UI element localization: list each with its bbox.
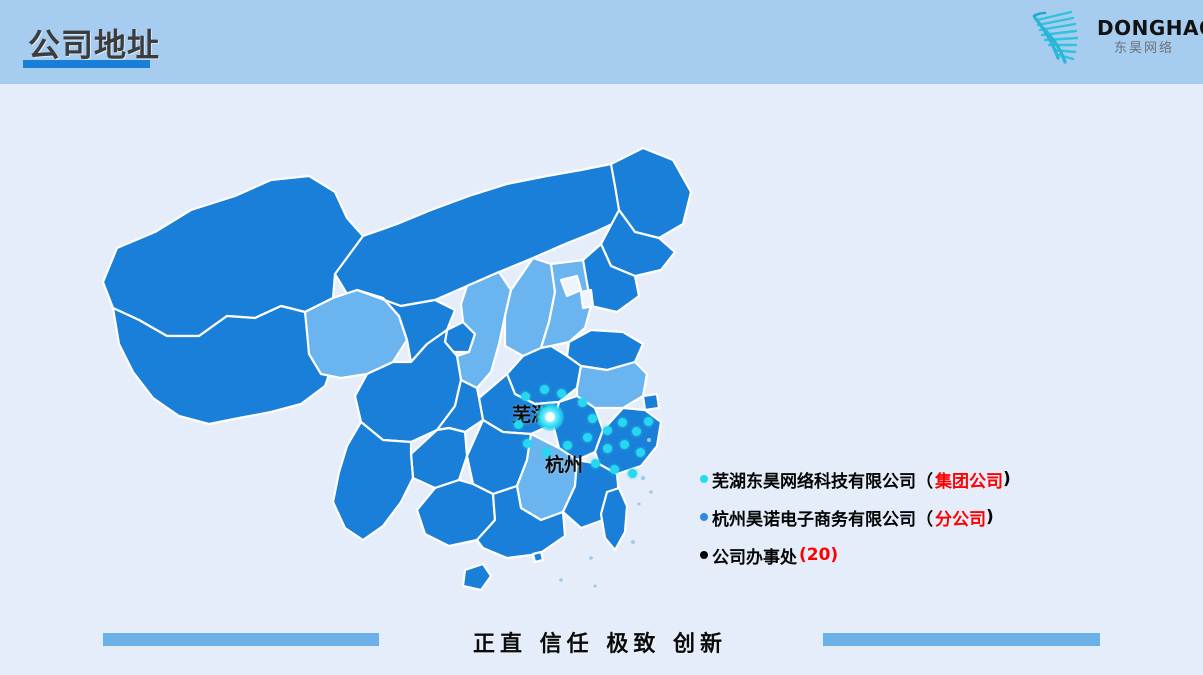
feather-logo-icon [1031, 10, 1093, 70]
logo-subtitle: 东昊网络 [1097, 40, 1191, 58]
office-marker[interactable] [563, 441, 572, 450]
legend-tag-offices-count: (20) [799, 545, 838, 565]
office-marker[interactable] [542, 448, 551, 457]
footer-bar-right [823, 633, 1100, 646]
office-marker[interactable] [578, 398, 587, 407]
office-marker[interactable] [603, 426, 612, 435]
legend-bullet-icon-black [700, 551, 708, 559]
office-marker[interactable] [591, 459, 600, 468]
footer-slogan: 正直 信任 极致 创新 [440, 626, 760, 658]
legend-label-group-company: 芜湖东昊网络科技有限公司 [712, 467, 916, 492]
office-marker[interactable] [628, 469, 637, 478]
logo-text-block: DONGHAO 东昊网络 [1097, 16, 1191, 58]
legend-close-paren: ) [986, 507, 994, 527]
legend-label-branch-company: 杭州昊诺电子商务有限公司 [712, 505, 916, 530]
office-marker[interactable] [603, 444, 612, 453]
legend-bullet-icon-blue [700, 513, 708, 521]
office-marker[interactable] [632, 427, 641, 436]
legend-bullet-icon-cyan [700, 475, 708, 483]
office-marker[interactable] [588, 414, 597, 423]
logo-name: DONGHAO [1097, 16, 1191, 40]
page-header: 公司地址 [0, 0, 1203, 84]
legend-tag-branch-company: 分公司 [935, 505, 986, 530]
company-logo: DONGHAO 东昊网络 [1031, 8, 1191, 72]
office-marker[interactable] [523, 439, 532, 448]
office-marker[interactable] [644, 417, 653, 426]
legend-open-paren: （ [916, 505, 933, 530]
office-marker[interactable] [636, 448, 645, 457]
office-marker[interactable] [583, 433, 592, 442]
legend-item-branch-company[interactable]: 杭州昊诺电子商务有限公司 （ 分公司 ) [700, 498, 1140, 536]
title-underline-accent [23, 60, 150, 68]
china-provinces-map [95, 140, 715, 610]
office-marker[interactable] [610, 465, 619, 474]
map-legend: 芜湖东昊网络科技有限公司 （ 集团公司 ) 杭州昊诺电子商务有限公司 （ 分公司… [700, 460, 1140, 574]
china-map-container: 芜湖 杭州 [95, 140, 715, 610]
footer-bar-left [103, 633, 379, 646]
office-marker[interactable] [620, 440, 629, 449]
office-marker[interactable] [557, 389, 566, 398]
legend-open-paren: （ [916, 467, 933, 492]
headquarters-marker[interactable] [536, 403, 564, 431]
office-marker[interactable] [618, 418, 627, 427]
office-marker[interactable] [514, 420, 523, 429]
legend-label-offices: 公司办事处 [712, 543, 797, 568]
office-marker[interactable] [540, 385, 549, 394]
legend-tag-group-company: 集团公司 [935, 467, 1003, 492]
legend-item-group-company[interactable]: 芜湖东昊网络科技有限公司 （ 集团公司 ) [700, 460, 1140, 498]
legend-item-offices[interactable]: 公司办事处 (20) [700, 536, 1140, 574]
office-marker[interactable] [521, 392, 530, 401]
legend-close-paren: ) [1003, 469, 1011, 489]
